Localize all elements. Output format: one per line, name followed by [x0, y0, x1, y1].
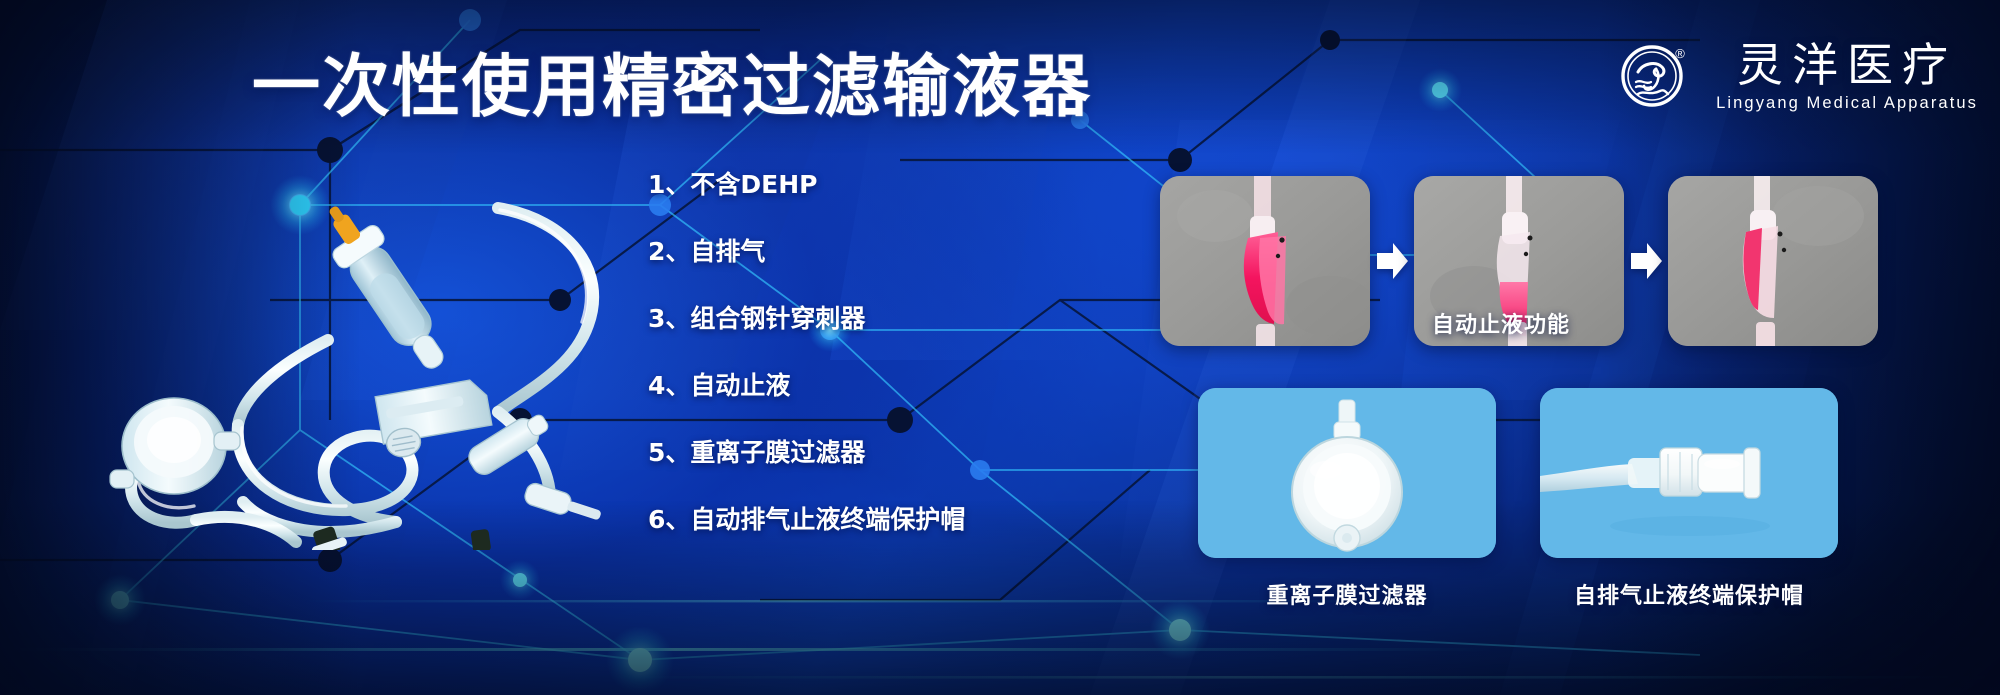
panel-self-venting-terminal-cap: [1540, 388, 1838, 558]
feature-list: 1、不含DEHP 2、自排气 3、组合钢针穿刺器 4、自动止液 5、重离子膜过滤…: [648, 172, 978, 532]
page-title: 一次性使用精密过滤输液器: [252, 54, 1092, 122]
feature-item-3: 3、组合钢针穿刺器: [648, 306, 978, 331]
feature-item-2: 2、自排气: [648, 239, 978, 264]
flow-chamber-full-icon: [1160, 176, 1370, 346]
membrane-filter-icon: [1198, 388, 1496, 558]
feature-item-5: 5、重离子膜过滤器: [648, 440, 978, 465]
banner-title-area: 一次性使用精密过滤输液器: [252, 48, 1022, 128]
lower-panels: [1198, 388, 1838, 558]
caption-self-venting-terminal-cap: 自排气止液终端保护帽: [1540, 578, 1838, 610]
brand-name-block: 灵洋医疗 Lingyang Medical Apparatus: [1716, 41, 1978, 112]
panel-heavy-ion-membrane-filter: [1198, 388, 1496, 558]
brand-name-en: Lingyang Medical Apparatus: [1716, 94, 1978, 113]
infusion-set-illustration: [28, 150, 648, 550]
demo-step-1-photo: [1160, 176, 1370, 346]
demo-step-3-photo: [1668, 176, 1878, 346]
product-photo-infusion-set: [28, 150, 648, 550]
demo-arrow-2: [1624, 239, 1668, 283]
terminal-protective-cap-icon: [1540, 388, 1838, 558]
brand-name-cn: 灵洋医疗: [1737, 41, 1957, 89]
brand-lockup: ® 灵洋医疗 Lingyang Medical Apparatus: [1616, 38, 1978, 116]
arrow-right-icon: [1375, 239, 1409, 283]
demo-arrow-1: [1370, 239, 1414, 283]
feature-item-4: 4、自动止液: [648, 373, 978, 398]
company-logo-emblem: ®: [1616, 38, 1694, 116]
feature-item-6: 6、自动排气止液终端保护帽: [648, 507, 978, 532]
wave-seal-icon: ®: [1616, 38, 1694, 116]
product-banner: 一次性使用精密过滤输液器 ® 灵洋医疗 Lingyang Medical App…: [0, 0, 2000, 695]
feature-item-1: 1、不含DEHP: [648, 172, 978, 197]
demo-caption: 自动止液功能: [1432, 307, 1570, 339]
flow-chamber-stopped-icon: [1668, 176, 1878, 346]
lower-panel-captions: 重离子膜过滤器 自排气止液终端保护帽: [1198, 578, 1838, 610]
arrow-right-icon: [1629, 239, 1663, 283]
caption-heavy-ion-membrane-filter: 重离子膜过滤器: [1198, 578, 1496, 610]
registered-mark: ®: [1675, 46, 1685, 61]
